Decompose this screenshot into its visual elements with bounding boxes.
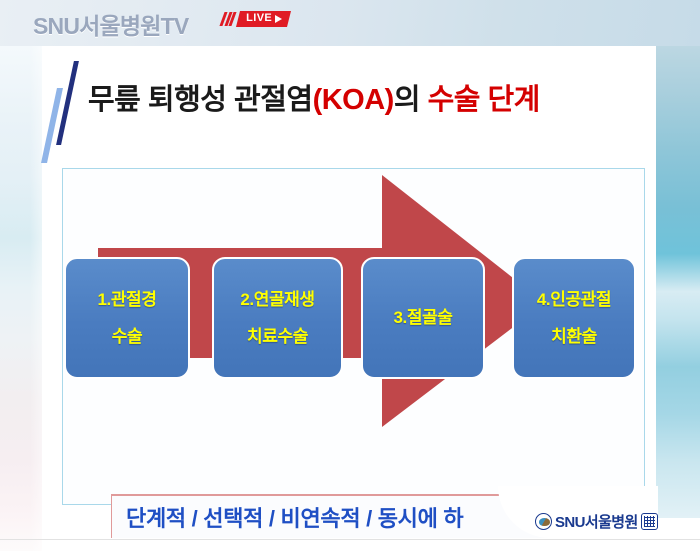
step-box-1[interactable]: 1.관절경 수술 — [64, 257, 190, 379]
watermark-label: SNU서울병원 — [555, 511, 638, 532]
page-title-part-1: 무릎 퇴행성 관절염 — [88, 84, 313, 116]
step-box-2-line1: 2.연골재생 — [240, 291, 314, 309]
video-frame: SNU서울병원TV LIVE 무릎 퇴행성 관절염(KOA)의 수술 단계 1.… — [0, 0, 700, 551]
step-box-2[interactable]: 2.연골재생 치료수술 — [212, 257, 343, 379]
step-box-4-line1: 4.인공관절 — [537, 291, 611, 309]
step-box-3[interactable]: 3.절골술 — [361, 257, 485, 379]
triple-slash-icon — [222, 12, 234, 26]
slide-caption-banner: 단계적 / 선택적 / 비연속적 / 동시에 하 — [111, 494, 567, 538]
live-label: LIVE — [246, 12, 272, 25]
step-box-4[interactable]: 4.인공관절 치환술 — [512, 257, 636, 379]
page-title-accent: 수술 단계 — [428, 84, 540, 116]
background-right-gradient — [656, 46, 700, 518]
page-title-part-2: 의 — [394, 84, 428, 116]
channel-title: SNU서울병원TV — [33, 7, 188, 41]
snu-circle-logo-icon — [535, 513, 552, 530]
snu-square-seal-icon — [641, 513, 658, 530]
page-title-koa: (KOA) — [313, 84, 394, 116]
hospital-watermark: SNU서울병원 — [535, 511, 658, 532]
play-triangle-icon — [275, 15, 282, 23]
step-box-4-line2: 치환술 — [551, 328, 597, 346]
bottom-divider — [0, 539, 700, 540]
live-badge: LIVE — [236, 11, 291, 27]
live-indicator: LIVE — [222, 11, 289, 27]
channel-header-bar: SNU서울병원TV LIVE — [0, 0, 700, 46]
slide-caption-text: 단계적 / 선택적 / 비연속적 / 동시에 하 — [126, 501, 463, 533]
step-box-1-line1: 1.관절경 — [97, 291, 156, 309]
page-title: 무릎 퇴행성 관절염(KOA)의 수술 단계 — [88, 76, 540, 118]
step-box-2-line2: 치료수술 — [247, 328, 308, 346]
step-box-3-line1: 3.절골술 — [393, 309, 452, 327]
step-box-1-line2: 수술 — [112, 328, 142, 346]
